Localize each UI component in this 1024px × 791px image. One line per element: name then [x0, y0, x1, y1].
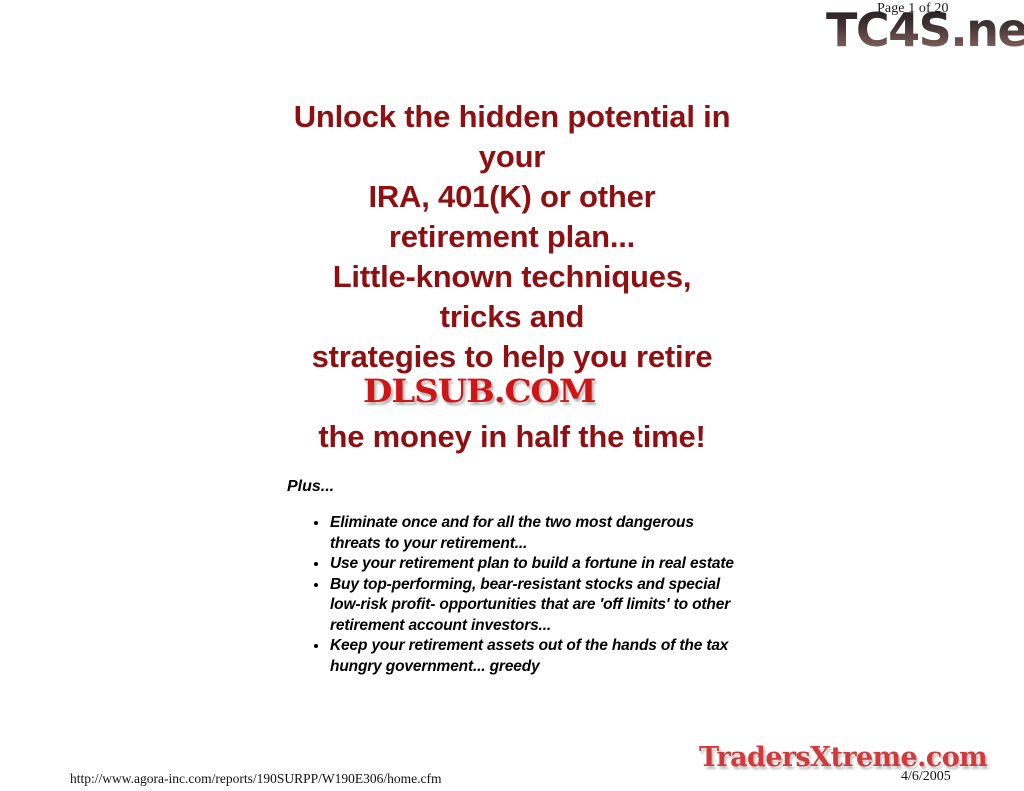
footer-date: 4/6/2005 — [901, 769, 951, 785]
bullet-dot-icon — [314, 521, 318, 525]
list-item-label: Eliminate once and for all the two most … — [330, 514, 694, 552]
bullet-dot-icon — [314, 583, 318, 587]
headline-line-4: retirement plan... — [212, 217, 812, 257]
bullet-dot-icon — [314, 644, 318, 648]
list-item-label: Buy top-performing, bear-resistant stock… — [330, 576, 730, 634]
benefits-list: Eliminate once and for all the two most … — [312, 513, 742, 677]
headline-line-9: the money in half the time! — [212, 417, 812, 457]
plus-label: Plus... — [287, 478, 334, 496]
list-item: Eliminate once and for all the two most … — [312, 513, 742, 554]
headline-line-5: Little-known techniques, — [212, 257, 812, 297]
bullet-dot-icon — [314, 562, 318, 566]
list-item: Buy top-performing, bear-resistant stock… — [312, 575, 742, 637]
headline-line-7: strategies to help you retire — [212, 337, 812, 377]
list-item-label: Keep your retirement assets out of the h… — [330, 637, 728, 675]
footer-source-url[interactable]: http://www.agora-inc.com/reports/190SURP… — [70, 771, 441, 787]
page-indicator: Page 1 of 20 — [877, 1, 949, 17]
list-item: Keep your retirement assets out of the h… — [312, 636, 742, 677]
headline-line-6: tricks and — [212, 297, 812, 337]
slide-canvas: TC4S.net Page 1 of 20 Unlock the hidden … — [0, 0, 1024, 791]
list-item: Use your retirement plan to build a fort… — [312, 554, 742, 575]
headline-line-2: your — [212, 137, 812, 177]
dlsub-watermark: DLSUB.COM — [363, 375, 595, 407]
headline-line-1: Unlock the hidden potential in — [212, 97, 812, 137]
headline-line-3: IRA, 401(K) or other — [212, 177, 812, 217]
list-item-label: Use your retirement plan to build a fort… — [330, 555, 734, 572]
